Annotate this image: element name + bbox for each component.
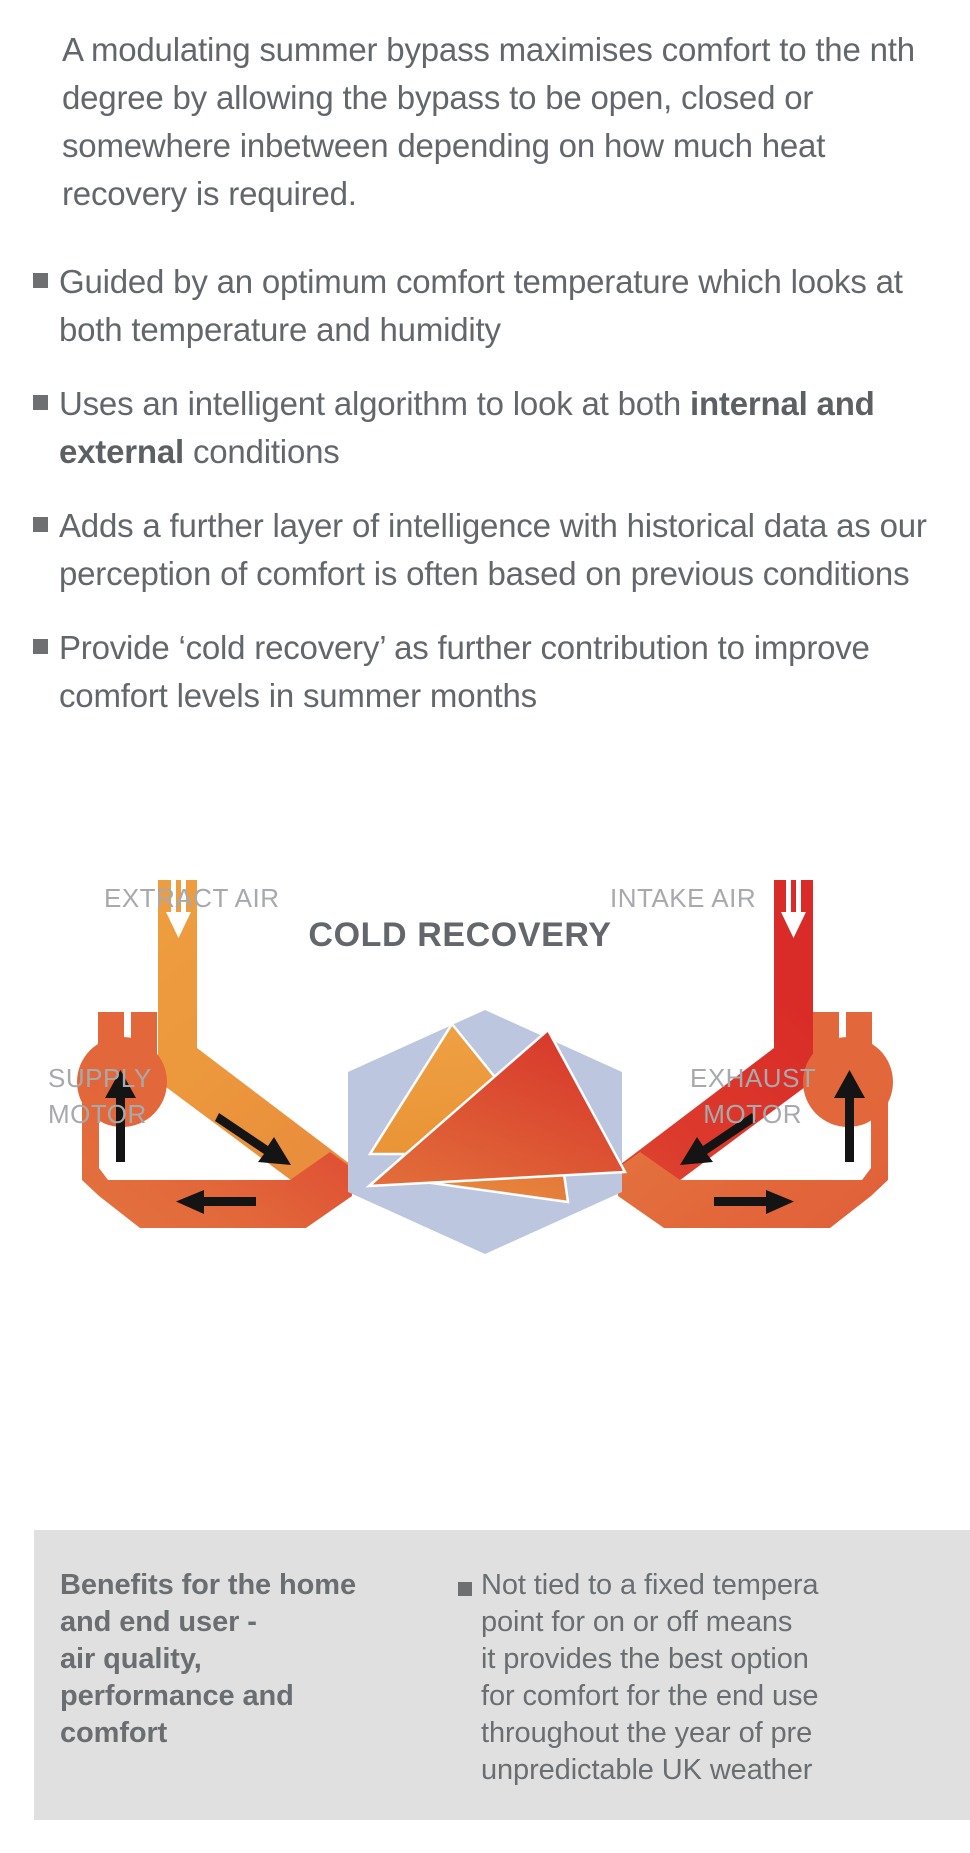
bullet-item-intelligent-algorithm-internal-external: Uses an intelligent algorithm to look at… <box>33 380 963 476</box>
square-bullet-icon <box>458 1582 472 1596</box>
benefits-bullet-row: Not tied to a fixed tempera point for on… <box>458 1567 818 1789</box>
bullet-item-label: Adds a further layer of intelligence wit… <box>59 502 963 598</box>
bullet-item-label: Uses an intelligent algorithm to look at… <box>59 380 963 476</box>
bullet-item-guided-by-optimum-comfort-temperature: Guided by an optimum comfort temperature… <box>33 258 963 354</box>
square-bullet-icon <box>33 639 48 654</box>
bullet-item-historical-data-perception-of-comfort: Adds a further layer of intelligence wit… <box>33 502 963 598</box>
square-bullet-icon <box>33 273 48 288</box>
bullet-item-cold-recovery-summer-months: Provide ‘cold recovery’ as further contr… <box>33 624 963 720</box>
label-supply-motor: SUPPLY MOTOR <box>48 1060 152 1132</box>
benefits-heading: Benefits for the home and end user - air… <box>60 1567 450 1789</box>
label-intake-air: INTAKE AIR <box>610 880 756 916</box>
slide-page: A modulating summer bypass maximises com… <box>0 0 970 1853</box>
benefits-bullet-text: Not tied to a fixed tempera point for on… <box>481 1567 818 1789</box>
intake-air-pipe <box>621 880 813 1207</box>
bullet-item-label: Guided by an optimum comfort temperature… <box>59 258 963 354</box>
label-exhaust-motor: EXHAUST MOTOR <box>690 1060 802 1132</box>
bullet-item-label: Provide ‘cold recovery’ as further contr… <box>59 624 963 720</box>
label-extract-air: EXTRACT AIR <box>104 880 280 916</box>
bullet-list: Guided by an optimum comfort temperature… <box>33 258 963 746</box>
square-bullet-icon <box>33 517 48 532</box>
intro-paragraph: A modulating summer bypass maximises com… <box>62 26 942 218</box>
diagram-title: COLD RECOVERY <box>300 913 620 957</box>
square-bullet-icon <box>33 395 48 410</box>
benefits-band: Benefits for the home and end user - air… <box>34 1530 970 1820</box>
cold-recovery-diagram: COLD RECOVERY EXTRACT AIR INTAKE AIR SUP… <box>0 880 970 1300</box>
